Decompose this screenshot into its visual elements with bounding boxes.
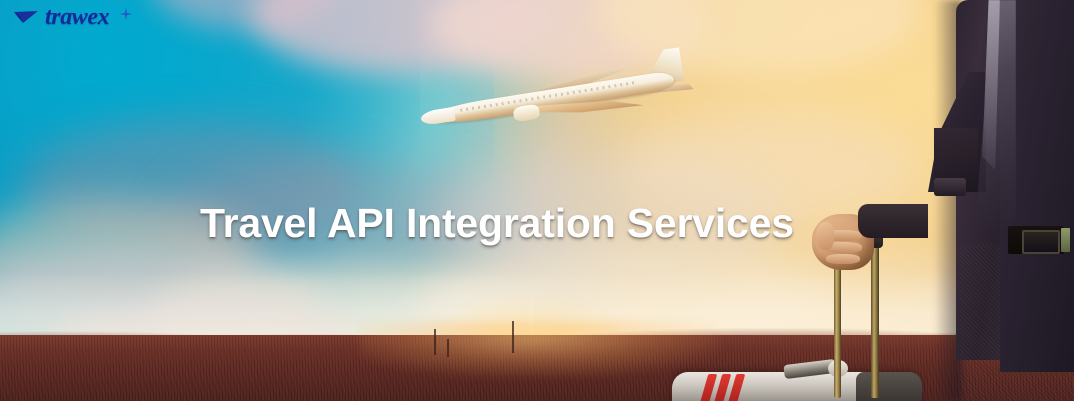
businessman <box>938 0 1074 401</box>
brand-name: trawex <box>45 5 109 29</box>
ground-sun-glow <box>360 321 720 377</box>
airplane-nose <box>420 107 456 126</box>
finger <box>826 254 860 264</box>
brand-logo[interactable]: trawex <box>14 6 109 30</box>
belt-buckle <box>1022 230 1060 254</box>
hero-banner: Travel API Integration Services traw <box>0 0 1074 401</box>
utility-pole <box>512 321 514 353</box>
belt-tip <box>1061 228 1070 252</box>
thumb <box>816 222 834 250</box>
utility-pole <box>447 339 449 357</box>
suitcase-end-panel <box>856 372 922 401</box>
sparkle-icon <box>120 8 132 20</box>
page-title: Travel API Integration Services <box>200 201 794 247</box>
suit-cuff <box>934 178 966 196</box>
jacket-sleeve-cuff <box>858 204 928 238</box>
utility-pole <box>434 329 436 355</box>
paper-plane-triangle-icon <box>14 8 40 28</box>
